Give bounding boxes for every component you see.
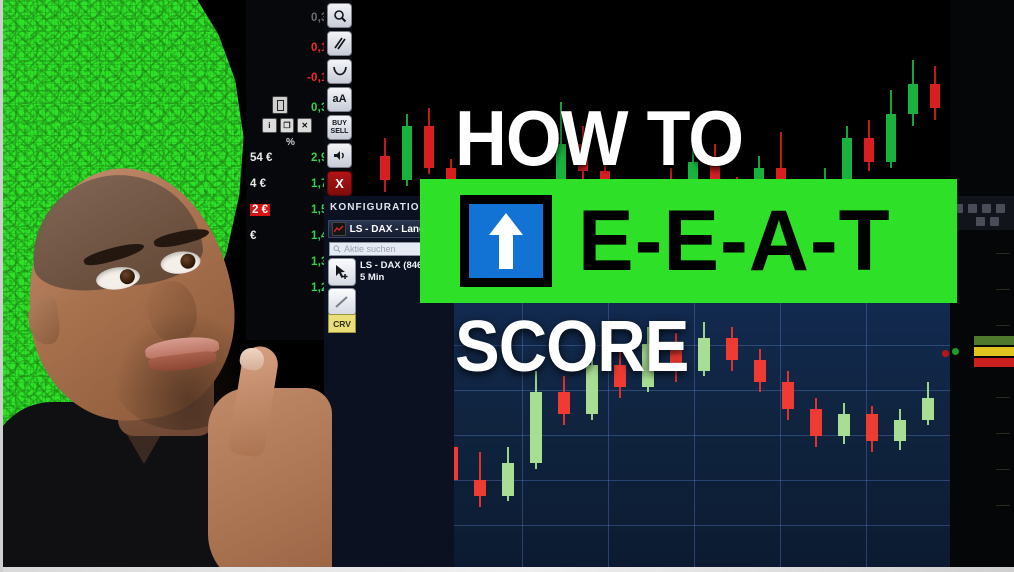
parallel-lines-icon[interactable] [327, 31, 352, 56]
window-buttons[interactable]: i❐✕ [262, 118, 312, 134]
candle-body [886, 114, 896, 162]
rp-icon-5[interactable] [976, 217, 985, 226]
candle-body [908, 84, 918, 114]
level-marker-green [952, 348, 959, 355]
head [13, 157, 246, 432]
close-icon[interactable]: X [327, 171, 352, 196]
trendline-icon[interactable] [328, 288, 356, 316]
buy-sell-button[interactable]: BUYSELL [327, 115, 352, 140]
left-iris [119, 268, 136, 285]
sound-icon[interactable] [327, 143, 352, 168]
candle-body [754, 360, 766, 382]
right-iris [180, 253, 197, 270]
presenter-photo [0, 150, 330, 572]
panel-dock-icon[interactable] [272, 96, 288, 114]
rp-icon-6[interactable] [990, 217, 999, 226]
candle-body [810, 409, 822, 436]
eeat-banner: E-E-A-T [420, 179, 957, 303]
rp-icon-3[interactable] [982, 204, 991, 213]
candle-body [726, 338, 738, 360]
candlestick [698, 300, 710, 572]
chart-thumb-icon [332, 222, 346, 236]
crv-button[interactable]: CRV [328, 314, 356, 333]
search-icon [333, 245, 341, 253]
restore-button[interactable]: ❐ [280, 118, 295, 133]
symbol-line-2: 5 Min [360, 272, 384, 283]
price-level-label: —— [996, 394, 1010, 401]
close-button[interactable]: ✕ [297, 118, 312, 133]
price-level-label: —— [996, 466, 1010, 473]
right-price-panel: ———————————————— [950, 0, 1014, 572]
candlestick [810, 300, 822, 572]
candle-body [838, 414, 850, 436]
candle-body [842, 138, 852, 180]
left-edge-strip [0, 0, 3, 572]
candle-body [558, 392, 570, 414]
rp-icon-2[interactable] [968, 204, 977, 213]
text-size-label: aA [332, 96, 346, 104]
cursor-add-icon[interactable] [328, 258, 356, 286]
buy-sell-label: BUYSELL [331, 120, 349, 135]
candlestick [866, 300, 878, 572]
price-level-label: —— [996, 322, 1010, 329]
candle-body [922, 398, 934, 420]
grid-line-vertical [780, 300, 781, 572]
text-size-icon[interactable]: aA [327, 87, 352, 112]
bottom-edge-strip [0, 567, 1014, 572]
headline-banner-text: E-E-A-T [578, 198, 891, 284]
candle-body [698, 338, 710, 371]
price-badge [974, 358, 1014, 367]
candle-body [424, 126, 434, 168]
candle-body [474, 480, 486, 496]
grid-line-vertical [694, 300, 695, 572]
up-arrow-icon [460, 195, 552, 287]
candlestick [726, 300, 738, 572]
candle-body [866, 414, 878, 441]
candlestick [894, 300, 906, 572]
headline-bottom: SCORE [455, 311, 688, 383]
candle-body [402, 126, 412, 180]
candle-body [380, 156, 390, 180]
candlestick [922, 300, 934, 572]
level-marker-red [942, 350, 949, 357]
ear [26, 297, 61, 346]
price-level-label: —— [996, 502, 1010, 509]
info-button[interactable]: i [262, 118, 277, 133]
candle-body [782, 382, 794, 409]
candlestick [838, 300, 850, 572]
zoom-icon[interactable] [327, 3, 352, 28]
candle-body [894, 420, 906, 442]
candle-body [530, 392, 542, 463]
search-placeholder-text: Aktie suchen [344, 244, 396, 254]
right-panel-header [1007, 182, 1009, 189]
percent-column-header: % [286, 137, 295, 148]
price-level-label: —— [996, 286, 1010, 293]
candlestick [782, 300, 794, 572]
headline-top: HOW TO [455, 99, 743, 177]
right-panel-toolbar[interactable] [950, 196, 1014, 230]
konfiguration-title: KONFIGURATION [330, 202, 428, 213]
thumbnail-canvas: 0,33 %0,18 %-0,16 %0,39 % 54 €2,92 %4 €1… [0, 0, 1014, 572]
close-label: X [335, 180, 344, 188]
price-level-label: —— [996, 430, 1010, 437]
candle-body [502, 463, 514, 496]
candle-body [930, 84, 940, 108]
curve-icon[interactable] [327, 59, 352, 84]
rp-icon-4[interactable] [996, 204, 1005, 213]
hand [208, 388, 332, 572]
candle-body [864, 138, 874, 162]
price-badge [974, 347, 1014, 356]
price-level-label: —— [996, 250, 1010, 257]
price-badge [974, 336, 1014, 345]
candlestick [754, 300, 766, 572]
